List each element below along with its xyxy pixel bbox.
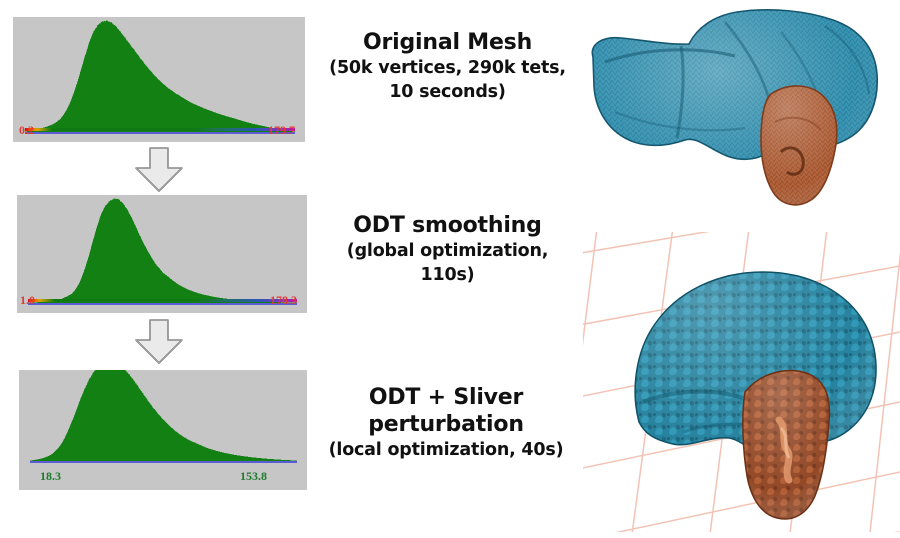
caption-line-odt-1: (global optimization, — [320, 239, 575, 263]
histogram-curve — [28, 198, 297, 303]
caption-line-original-2: 10 seconds) — [320, 80, 575, 104]
arrow-down-icon — [130, 146, 188, 194]
histogram-baseline-sliver — [30, 461, 297, 463]
caption-title-odt: ODT smoothing — [320, 212, 575, 239]
histogram-min-label-odt: 1.0 — [20, 294, 35, 306]
arrow-down-icon — [130, 318, 188, 366]
caption-line-original-1: (50k vertices, 290k tets, — [320, 56, 575, 80]
caption-title-sliver-2: perturbation — [305, 411, 587, 438]
mesh-optimized-render — [583, 232, 900, 532]
histogram-curve — [25, 20, 295, 132]
histogram-curve — [30, 370, 297, 461]
histogram-panel-odt — [17, 195, 307, 313]
caption-line-odt-2: 110s) — [320, 263, 575, 287]
arrow-down-1 — [130, 146, 188, 194]
caption-odt-smoothing: ODT smoothing (global optimization, 110s… — [320, 212, 575, 287]
caption-title-original: Original Mesh — [320, 29, 575, 56]
caption-line-sliver-1: (local optimization, 40s) — [305, 438, 587, 462]
quality-colorbar-odt — [28, 299, 297, 302]
figure-canvas: 0.2 179.7 Original Mesh (50k vertices, 2… — [0, 0, 900, 538]
caption-sliver-perturbation: ODT + Sliver perturbation (local optimiz… — [305, 384, 587, 462]
mesh-optimized — [583, 232, 900, 532]
histogram-max-label-odt: 178.3 — [270, 294, 297, 306]
mesh-original-render — [585, 2, 900, 234]
histogram-area-odt — [17, 195, 307, 313]
histogram-min-label-sliver: 18.3 — [40, 470, 61, 482]
mesh-original — [585, 2, 900, 234]
histogram-panel-original — [13, 17, 305, 142]
histogram-baseline-original — [25, 132, 295, 134]
arrow-down-2 — [130, 318, 188, 366]
histogram-min-label-original: 0.2 — [19, 124, 34, 136]
caption-original-mesh: Original Mesh (50k vertices, 290k tets, … — [320, 29, 575, 104]
quality-colorbar-original — [25, 128, 295, 131]
histogram-baseline-odt — [28, 303, 297, 305]
histogram-max-label-sliver: 153.8 — [240, 470, 267, 482]
histogram-area-original — [13, 17, 305, 142]
mesh-liver-surface-optimized — [583, 232, 900, 532]
mesh-liver-surface — [585, 2, 900, 234]
histogram-max-label-original: 179.7 — [268, 124, 295, 136]
caption-title-sliver-1: ODT + Sliver — [305, 384, 587, 411]
